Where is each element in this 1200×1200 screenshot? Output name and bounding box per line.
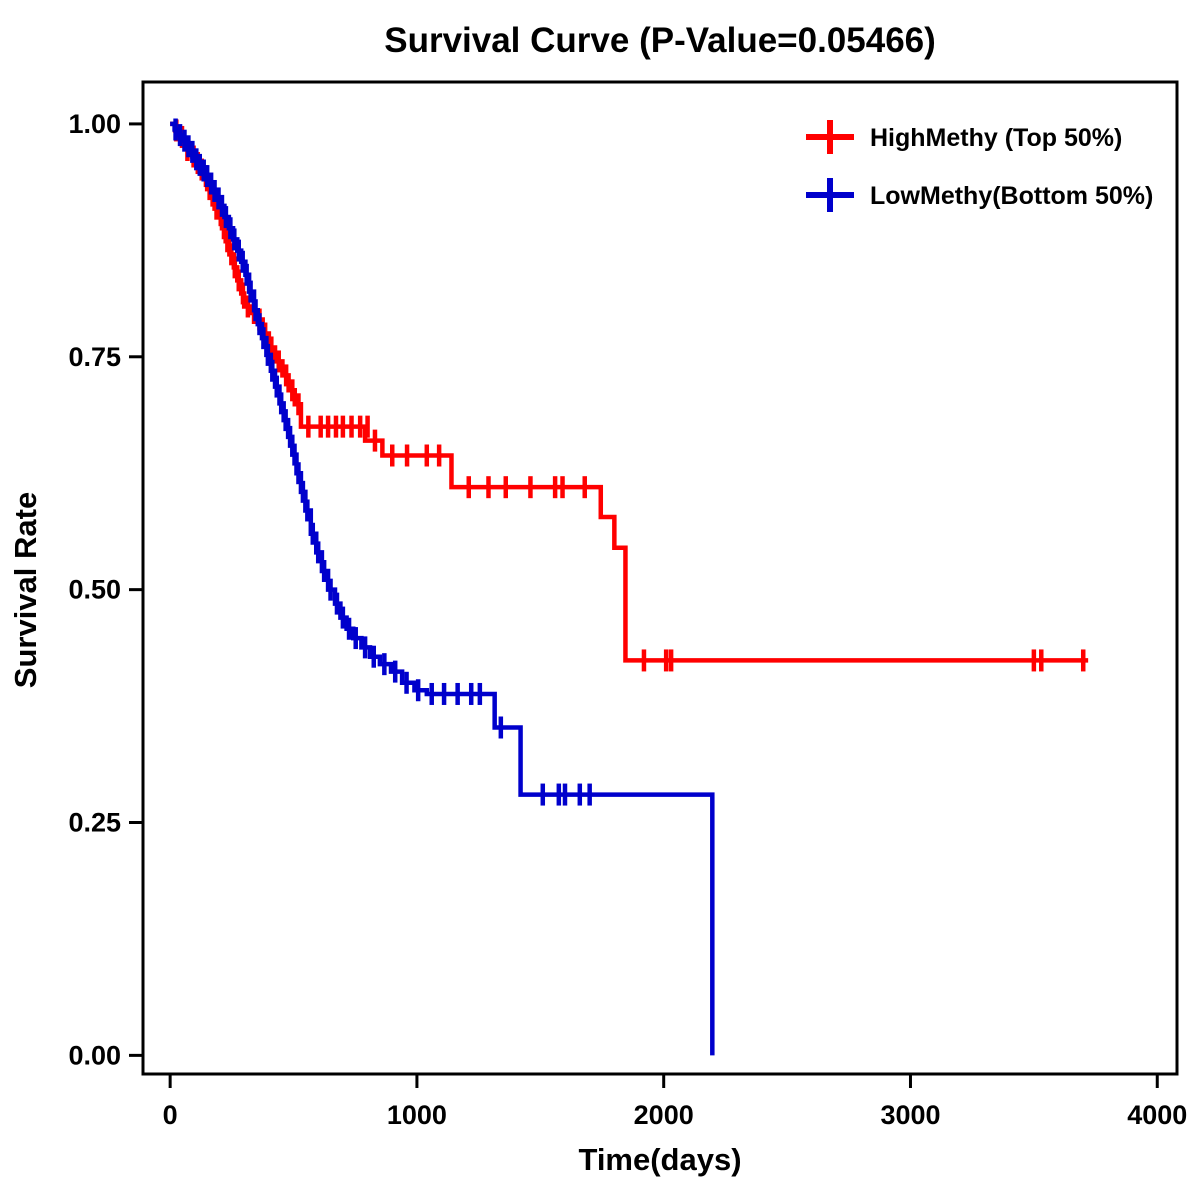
x-axis-label: Time(days) — [578, 1142, 741, 1177]
survival-curve-figure: Survival Curve (P-Value=0.05466) Surviva… — [0, 0, 1200, 1200]
y-tick-label: 1.00 — [68, 109, 121, 139]
legend-label: LowMethy(Bottom 50%) — [870, 182, 1153, 210]
y-axis-label: Survival Rate — [8, 492, 43, 688]
x-tick-label: 1000 — [387, 1100, 447, 1130]
x-tick-label: 2000 — [634, 1100, 694, 1130]
x-tick-label: 0 — [163, 1100, 178, 1130]
chart-canvas: Survival Curve (P-Value=0.05466) Surviva… — [0, 0, 1200, 1200]
y-tick-label: 0.50 — [68, 575, 121, 605]
legend-label: HighMethy (Top 50%) — [870, 124, 1122, 152]
chart-title: Survival Curve (P-Value=0.05466) — [384, 21, 936, 60]
y-tick-label: 0.00 — [68, 1040, 121, 1070]
y-tick-label: 0.25 — [68, 808, 121, 838]
x-tick-label: 3000 — [880, 1100, 940, 1130]
x-tick-label: 4000 — [1127, 1100, 1187, 1130]
y-tick-label: 0.75 — [68, 342, 121, 372]
figure-background — [0, 0, 1200, 1200]
